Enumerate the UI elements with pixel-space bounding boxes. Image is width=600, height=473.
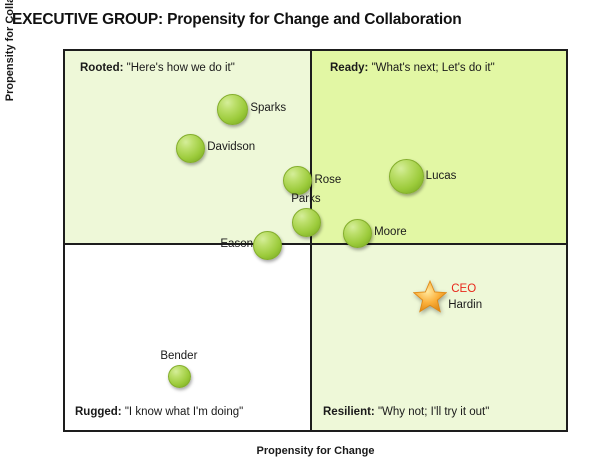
vertical-axis-line <box>310 51 312 430</box>
horizontal-axis-line <box>65 243 566 245</box>
data-point-label-rose: Rose <box>314 174 341 186</box>
quadrant-label-rooted: Rooted: "Here's how we do it" <box>80 62 235 74</box>
ceo-role-label: CEO <box>451 283 476 295</box>
data-point-sparks <box>217 94 248 125</box>
quadrant-rugged <box>65 244 311 430</box>
data-point-label-sparks: Sparks <box>250 102 286 114</box>
data-point-davidson <box>176 134 205 163</box>
quadrant-label-resilient: Resilient: "Why not; I'll try it out" <box>323 406 489 418</box>
quadrant-name-resilient: Resilient: <box>323 406 375 418</box>
quadrant-resilient <box>311 244 566 430</box>
quadrant-quote-rooted: "Here's how we do it" <box>127 62 235 74</box>
data-point-eason <box>253 231 282 260</box>
data-point-label-eason: Eason <box>220 238 253 250</box>
ceo-star-icon <box>413 280 447 313</box>
data-point-label-hardin: Hardin <box>448 299 482 311</box>
quadrant-label-ready: Ready: "What's next; Let's do it" <box>330 62 495 74</box>
quadrant-quote-resilient: "Why not; I'll try it out" <box>378 406 489 418</box>
quadrant-label-rugged: Rugged: "I know what I'm doing" <box>75 406 243 418</box>
x-axis-title: Propensity for Change <box>63 445 568 457</box>
data-point-label-lucas: Lucas <box>426 170 457 182</box>
quadrant-name-ready: Ready: <box>330 62 368 74</box>
quadrant-name-rugged: Rugged: <box>75 406 122 418</box>
data-point-lucas <box>389 159 424 194</box>
page-title: EXECUTIVE GROUP: Propensity for Change a… <box>12 11 462 29</box>
chart-plot-area: Rooted: "Here's how we do it" Ready: "Wh… <box>63 49 568 432</box>
quadrant-ready <box>311 51 566 244</box>
y-axis-title: Propensity for Collaboration <box>0 0 20 152</box>
data-point-moore <box>343 219 372 248</box>
y-axis-title-label: Propensity for Collaboration <box>0 0 20 152</box>
quadrant-name-rooted: Rooted: <box>80 62 123 74</box>
data-point-label-parks: Parks <box>291 193 320 205</box>
data-point-bender <box>168 365 191 388</box>
data-point-label-bender: Bender <box>160 350 197 362</box>
quadrant-quote-rugged: "I know what I'm doing" <box>125 406 243 418</box>
quadrant-quote-ready: "What's next; Let's do it" <box>372 62 495 74</box>
data-point-label-moore: Moore <box>374 226 407 238</box>
data-point-label-davidson: Davidson <box>207 141 255 153</box>
